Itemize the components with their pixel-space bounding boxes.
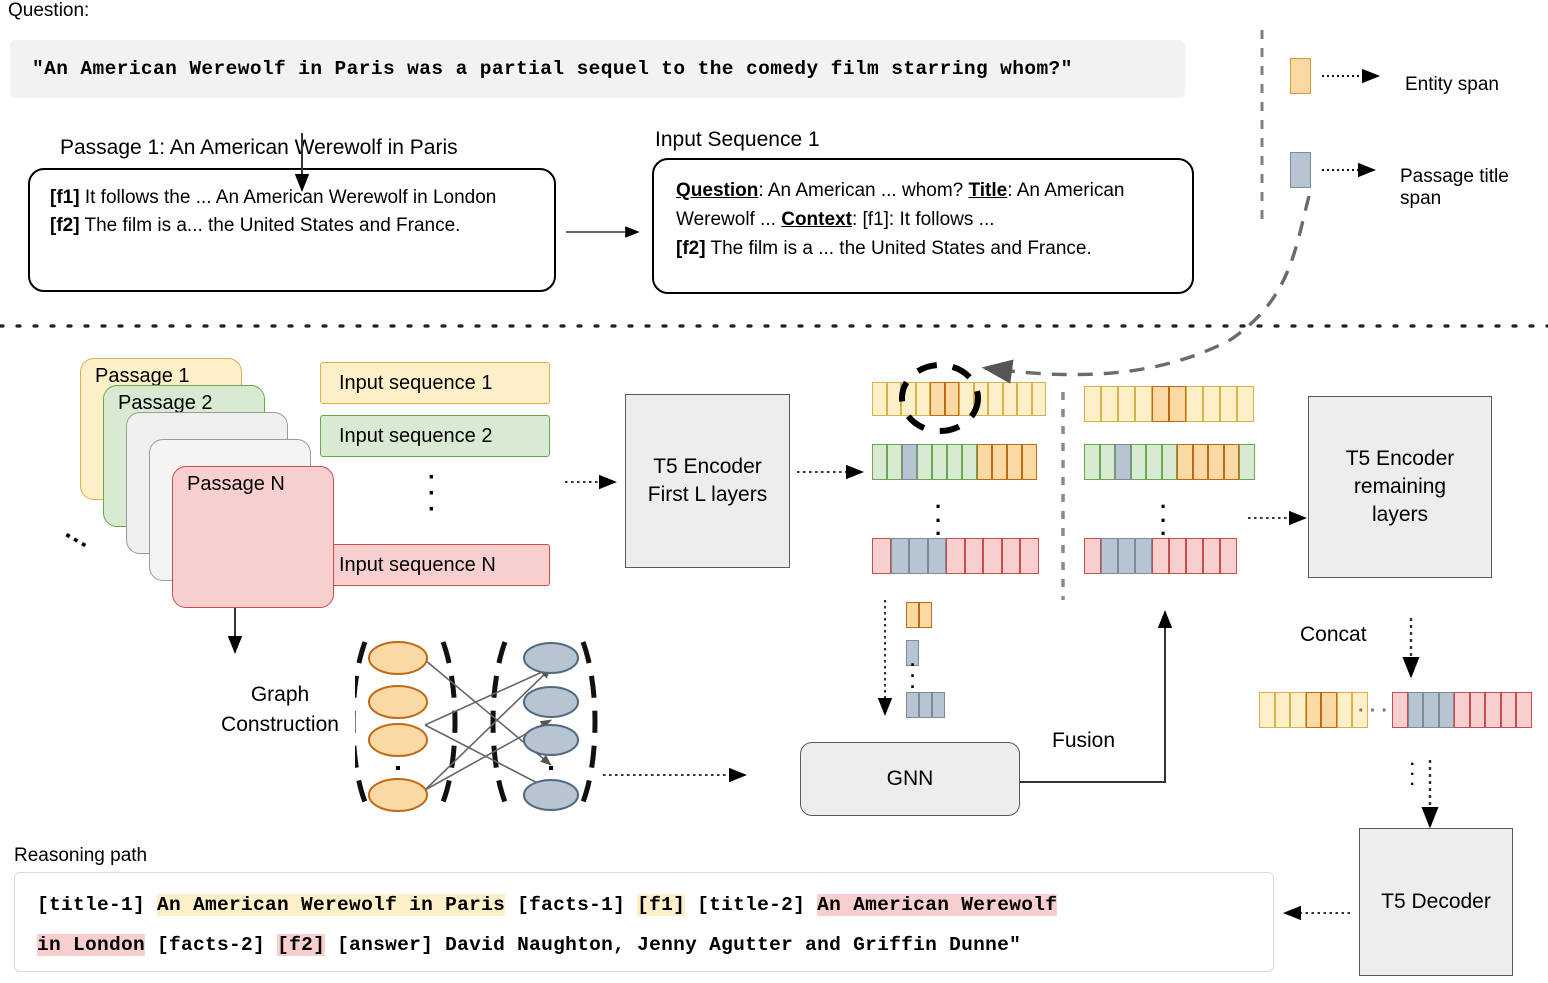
input-sequence-box-3: Input sequence N — [320, 544, 550, 586]
reasoning-token: [f2] — [277, 934, 325, 956]
token-cell — [906, 602, 919, 628]
token-cell — [1002, 538, 1021, 574]
token-cell — [1118, 538, 1135, 574]
fused-strip-2 — [1084, 444, 1255, 480]
input-sequence-box-2: Input sequence 2 — [320, 415, 550, 457]
reasoning-path-box: [title-1] An American Werewolf in Paris … — [14, 872, 1274, 972]
fusion-label: Fusion — [1052, 726, 1115, 756]
passage1-box: [f1] It follows the ... An American Were… — [28, 168, 556, 292]
token-cell — [1220, 386, 1237, 422]
reasoning-token: [facts-1] — [505, 894, 637, 916]
token-cell — [1516, 692, 1532, 728]
token-cell — [1084, 386, 1101, 422]
token-cell — [1290, 692, 1306, 728]
token-cell — [946, 538, 965, 574]
token-cell — [887, 382, 902, 416]
token-cell — [1408, 692, 1424, 728]
token-cell — [919, 602, 932, 628]
token-cell — [1162, 444, 1178, 480]
token-cell — [1423, 692, 1439, 728]
token-cell — [1152, 386, 1169, 422]
token-cell — [1203, 538, 1220, 574]
token-cell — [1020, 538, 1039, 574]
t5-encoder-first-box-label: T5 EncoderFirst L layers — [648, 453, 767, 509]
legend-passage-title-swatch — [1290, 152, 1311, 188]
input-sequence1-title: Input Sequence 1 — [655, 128, 820, 152]
input-sequence-label: Input sequence N — [321, 554, 496, 577]
reasoning-token: [title-1] — [37, 894, 157, 916]
token-cell — [1135, 386, 1152, 422]
token-cell — [983, 538, 1002, 574]
token-cell — [932, 692, 945, 718]
question-label: Question: — [8, 0, 89, 22]
token-cell — [909, 538, 928, 574]
token-cell — [1017, 382, 1032, 416]
gnn-box: GNN — [800, 742, 1020, 816]
token-cell — [932, 444, 947, 480]
concat-strip-a — [1259, 692, 1368, 728]
inputseq1-title-key: Title — [969, 180, 1008, 201]
token-cell — [965, 538, 984, 574]
token-cell — [1337, 692, 1353, 728]
token-cell — [1177, 444, 1193, 480]
token-cell — [1485, 692, 1501, 728]
inputseq1-question-val: : An American ... whom? — [758, 180, 968, 201]
concat-strip-b — [1392, 692, 1532, 728]
token-cell — [1439, 692, 1455, 728]
token-cell — [1306, 692, 1322, 728]
encoder-output-strip-1 — [872, 382, 1046, 416]
passage-card-5: Passage N — [172, 466, 334, 608]
token-cell — [902, 444, 917, 480]
passage1-f2-tag: [f2] — [50, 215, 80, 236]
inputseq1-question-key: Question — [676, 180, 758, 201]
token-cell — [959, 382, 974, 416]
token-cell — [1454, 692, 1470, 728]
fused-ellipsis: · · · — [1160, 500, 1167, 541]
token-cell — [930, 382, 945, 416]
reasoning-token: in London — [37, 934, 145, 956]
token-cell — [1007, 444, 1022, 480]
reasoning-token: [facts-2] — [145, 934, 277, 956]
inputseq1-f2-text: The film is a ... the United States and … — [706, 238, 1092, 259]
token-cell — [1135, 538, 1152, 574]
passage1-f2-text: The film is a... the United States and F… — [80, 215, 461, 236]
token-cell — [1186, 386, 1203, 422]
question-text: "An American Werewolf in Paris was a par… — [10, 58, 1073, 80]
token-cell — [945, 382, 960, 416]
token-cell — [1131, 444, 1147, 480]
t5-encoder-first-box: T5 EncoderFirst L layers — [625, 394, 790, 568]
gnn-box-label: GNN — [887, 765, 934, 793]
gnn-input-ellipsis: · · · — [910, 660, 916, 693]
token-cell — [1115, 444, 1131, 480]
reasoning-path-line1: [title-1] An American Werewolf in Paris … — [37, 885, 1273, 925]
passage1-fact2: [f2] The film is a... the United States … — [50, 212, 536, 240]
token-cell — [1203, 386, 1220, 422]
token-cell — [872, 382, 887, 416]
token-cell — [872, 538, 891, 574]
concat-label: Concat — [1300, 620, 1367, 650]
reasoning-path-label: Reasoning path — [14, 845, 147, 867]
passage1-f1-tag: [f1] — [50, 187, 80, 208]
token-cell — [1259, 692, 1275, 728]
token-cell — [1084, 538, 1101, 574]
t5-encoder-remaining-box: T5 Encoderremaininglayers — [1308, 396, 1492, 578]
token-cell — [1186, 538, 1203, 574]
reasoning-token: An American Werewolf — [817, 894, 1057, 916]
passage1-title: Passage 1: An American Werewolf in Paris — [60, 136, 458, 160]
token-cell — [917, 444, 932, 480]
reasoning-token: [f1] — [637, 894, 685, 916]
reasoning-path-line2: in London [facts-2] [f2] [answer] David … — [37, 925, 1273, 965]
legend-entity-swatch — [1290, 58, 1311, 94]
token-cell — [1501, 692, 1517, 728]
token-cell — [974, 382, 989, 416]
token-cell — [1022, 444, 1037, 480]
token-cell — [887, 444, 902, 480]
input-sequence1-box: Question: An American ... whom? Title: A… — [652, 158, 1194, 294]
token-cell — [1275, 692, 1291, 728]
token-cell — [872, 444, 887, 480]
token-cell — [1100, 444, 1116, 480]
token-cell — [992, 444, 1007, 480]
entity-title-bipartite-graph — [355, 630, 605, 815]
token-cell — [891, 538, 910, 574]
token-cell — [1239, 444, 1255, 480]
token-cell — [1101, 386, 1118, 422]
reasoning-token: An American Werewolf in Paris — [157, 894, 505, 916]
passage-card-label: Passage N — [187, 473, 285, 496]
t5-decoder-box-label: T5 Decoder — [1381, 888, 1491, 916]
encoder-output-strip-n — [872, 538, 1039, 574]
token-cell — [1169, 538, 1186, 574]
fused-strip-1 — [1084, 386, 1254, 422]
t5-encoder-remaining-box-label: T5 Encoderremaininglayers — [1346, 445, 1455, 529]
reasoning-token: [title-2] — [685, 894, 817, 916]
inputseq1-f2-tag: [f2] — [676, 238, 706, 259]
token-cell — [1146, 444, 1162, 480]
token-cell — [1193, 444, 1209, 480]
token-cell — [1208, 444, 1224, 480]
token-cell — [962, 444, 977, 480]
input-sequences-ellipsis: · · · — [428, 470, 436, 518]
t5-decoder-box: T5 Decoder — [1359, 828, 1513, 976]
token-cell — [1220, 538, 1237, 574]
token-cell — [1032, 382, 1047, 416]
inputseq1-context-val: : [f1]: It follows ... — [852, 209, 995, 230]
token-cell — [947, 444, 962, 480]
gnn-input-token-1 — [906, 602, 932, 628]
graph-construction-label: GraphConstruction — [190, 680, 370, 740]
passage1-fact1: [f1] It follows the ... An American Were… — [50, 184, 536, 212]
token-cell — [1169, 386, 1186, 422]
input-sequence-label: Input sequence 1 — [321, 372, 492, 395]
token-cell — [1084, 444, 1100, 480]
token-cell — [988, 382, 1003, 416]
encoder-output-ellipsis: · · · — [935, 500, 942, 541]
question-box: "An American Werewolf in Paris was a par… — [10, 40, 1185, 98]
concat-horizontal-ellipsis: ··· — [1358, 700, 1393, 723]
reasoning-token: [answer] David Naughton, Jenny Agutter a… — [325, 934, 1021, 956]
token-cell — [1118, 386, 1135, 422]
inputseq1-context-key: Context — [781, 209, 852, 230]
passage1-f1-text: It follows the ... An American Werewolf … — [80, 187, 497, 208]
token-cell — [1101, 538, 1118, 574]
token-cell — [1321, 692, 1337, 728]
token-cell — [1392, 692, 1408, 728]
token-cell — [1237, 386, 1254, 422]
encoder-output-strip-2 — [872, 444, 1037, 480]
token-cell — [1224, 444, 1240, 480]
token-cell — [1470, 692, 1486, 728]
inputseq1-fact2: [f2] The film is a ... the United States… — [676, 234, 1176, 263]
token-cell — [977, 444, 992, 480]
token-cell — [916, 382, 931, 416]
token-cell — [919, 692, 932, 718]
passages-ellipsis: · · · — [62, 529, 90, 550]
input-sequence-label: Input sequence 2 — [321, 425, 492, 448]
token-cell — [1003, 382, 1018, 416]
input-sequence-box-1: Input sequence 1 — [320, 362, 550, 404]
legend-entity-label: Entity span — [1405, 74, 1499, 96]
legend-passage-title-label: Passage title span — [1400, 166, 1548, 210]
concat-ellipsis: · · · — [1410, 760, 1415, 790]
token-cell — [901, 382, 916, 416]
